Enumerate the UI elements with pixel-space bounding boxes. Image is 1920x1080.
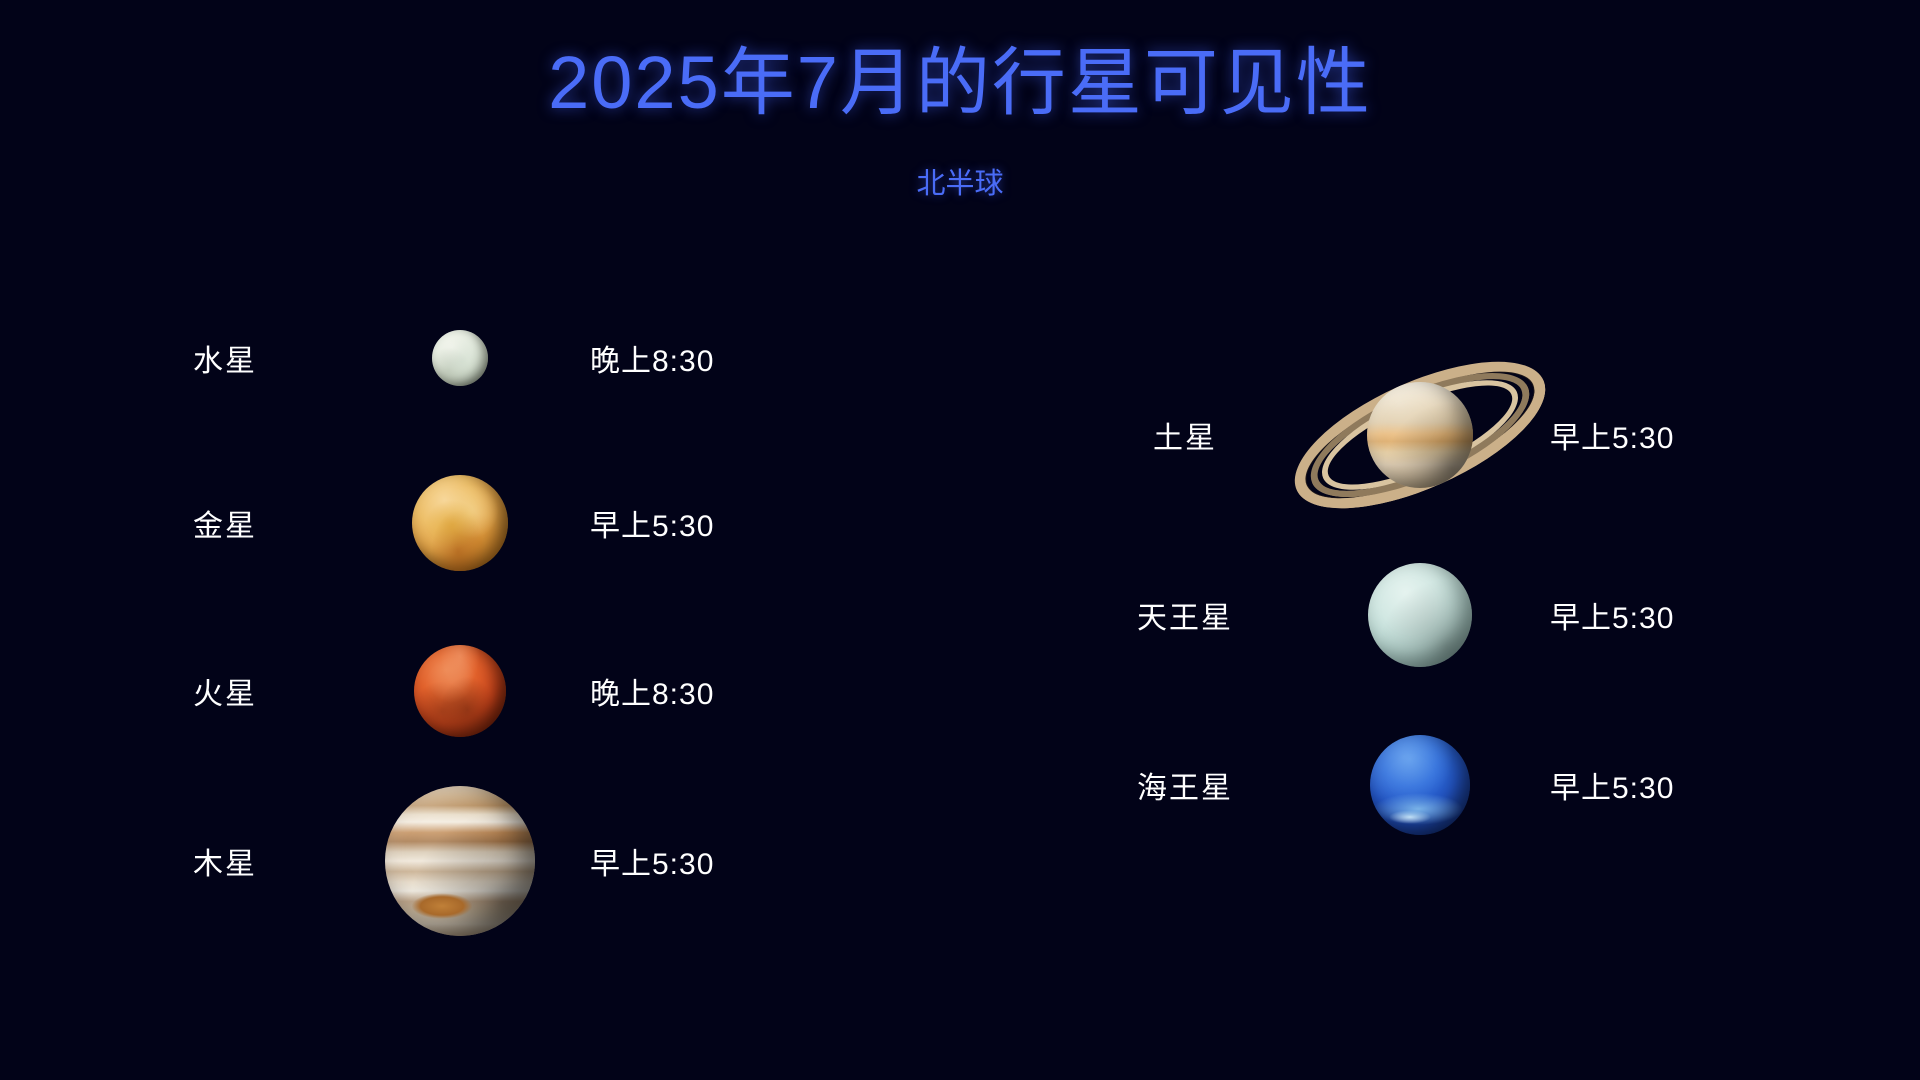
inner-planets-column: 水星 晚上8:30 金星 早上5:30 火星 晚上8:30 木星 早上5:30 <box>120 278 840 948</box>
planet-visual-uranus <box>1290 563 1550 667</box>
planet-row-jupiter: 木星 早上5:30 <box>120 773 840 948</box>
planet-mars-icon <box>414 645 506 737</box>
planet-time-uranus: 早上5:30 <box>1550 593 1674 637</box>
planet-row-mars: 火星 晚上8:30 <box>120 608 840 773</box>
outer-planets-column: 土星 早上5:30 天王星 早上5:30 海王星 早上5:30 <box>1080 340 1800 870</box>
planet-name-jupiter: 木星 <box>120 839 330 883</box>
planet-name-venus: 金星 <box>120 501 330 545</box>
planet-uranus-icon <box>1368 563 1472 667</box>
header: 2025年7月的行星可见性 北半球 <box>0 0 1920 202</box>
planet-name-mercury: 水星 <box>120 336 330 380</box>
planet-name-neptune: 海王星 <box>1080 763 1290 807</box>
planet-name-mars: 火星 <box>120 669 330 713</box>
planet-row-venus: 金星 早上5:30 <box>120 438 840 608</box>
planet-jupiter-icon <box>385 786 535 936</box>
planet-time-neptune: 早上5:30 <box>1550 763 1674 807</box>
planet-row-mercury: 水星 晚上8:30 <box>120 278 840 438</box>
page-title: 2025年7月的行星可见性 <box>0 0 1920 122</box>
planet-time-mercury: 晚上8:30 <box>590 336 714 380</box>
planet-name-saturn: 土星 <box>1080 413 1290 457</box>
planet-neptune-icon <box>1370 735 1470 835</box>
planet-time-mars: 晚上8:30 <box>590 669 714 713</box>
planet-visual-mars <box>330 645 590 737</box>
planet-venus-icon <box>412 475 508 571</box>
page-subtitle: 北半球 <box>0 122 1920 202</box>
planet-name-uranus: 天王星 <box>1080 593 1290 637</box>
planet-time-jupiter: 早上5:30 <box>590 839 714 883</box>
planet-mercury-icon <box>432 330 488 386</box>
planet-time-venus: 早上5:30 <box>590 501 714 545</box>
saturn-body <box>1367 382 1473 488</box>
planet-row-neptune: 海王星 早上5:30 <box>1080 700 1800 870</box>
planet-visual-saturn <box>1290 340 1550 530</box>
planet-visual-mercury <box>330 330 590 386</box>
planet-visual-venus <box>330 475 590 571</box>
planet-visual-neptune <box>1290 735 1550 835</box>
planet-saturn-icon <box>1290 340 1550 530</box>
planet-time-saturn: 早上5:30 <box>1550 413 1674 457</box>
planet-visual-jupiter <box>330 786 590 936</box>
planet-row-uranus: 天王星 早上5:30 <box>1080 530 1800 700</box>
planet-row-saturn: 土星 早上5:30 <box>1080 340 1800 530</box>
